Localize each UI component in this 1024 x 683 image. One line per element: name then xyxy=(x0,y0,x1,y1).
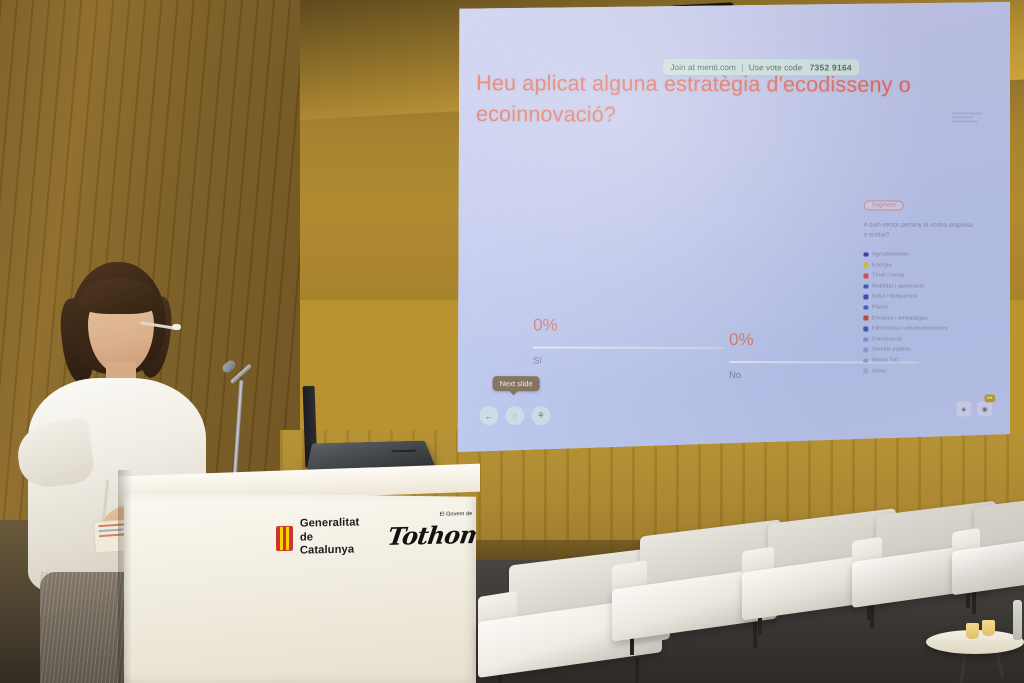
legend-badge: Segment xyxy=(864,200,904,210)
generalitat-line2: de Catalunya xyxy=(300,530,362,559)
poll-label: Sí xyxy=(533,356,723,367)
poll-option-yes: 0% Sí xyxy=(533,317,723,367)
legend-item-label: Salut i bioquímica xyxy=(872,294,917,300)
legend-item: Plàstic xyxy=(863,305,973,311)
legend-item-label: Serveis públics xyxy=(872,347,911,353)
legend-question: A quin sector pertany la vostra empresa … xyxy=(864,220,974,240)
legend-item: Altres xyxy=(863,368,973,374)
legend-item: Construcció xyxy=(863,336,973,342)
generalitat-logo: Generalitat de Catalunya xyxy=(276,516,362,559)
menti-vote-pill: Join at menti.com | Use vote code 7352 9… xyxy=(663,59,859,76)
legend-color-swatch xyxy=(863,358,868,363)
tothom-wordmark: Tothom xyxy=(386,520,486,551)
presenter-icon[interactable]: ⚘ xyxy=(531,406,550,425)
legend-item: Agroalimentari xyxy=(864,252,974,258)
lightbulb-icon[interactable]: ◌ xyxy=(505,406,524,425)
poll-bar xyxy=(533,347,723,349)
legend-item: Salut i bioquímica xyxy=(863,294,973,300)
auditorium-scene: Heu aplicat alguna estratègia d'ecodisse… xyxy=(0,0,1024,683)
participants-icon[interactable]: ◉••• xyxy=(977,401,992,416)
left-arm xyxy=(14,417,96,491)
paper-cup xyxy=(982,620,995,636)
poll-percent: 0% xyxy=(533,317,723,334)
legend-color-swatch xyxy=(863,305,868,310)
participants-badge: ••• xyxy=(984,394,995,402)
legend-item-label: Electrònica i electrodomèstics xyxy=(872,326,948,332)
generalitat-text: Generalitat de Catalunya xyxy=(300,516,362,558)
menti-vote-label: Use vote code xyxy=(749,62,803,72)
menti-separator: | xyxy=(741,62,743,72)
lectern-branding: Generalitat de Catalunya El Govern de To… xyxy=(276,514,484,559)
segment-legend: Segment A quin sector pertany la vostra … xyxy=(863,193,973,379)
legend-color-swatch xyxy=(863,369,868,374)
legend-item: Serveis públics xyxy=(863,347,973,353)
legend-color-swatch xyxy=(863,263,868,268)
menti-join-text: Join at menti.com xyxy=(670,62,736,72)
slide-controls-left[interactable]: ←◌⚘ xyxy=(479,406,550,425)
comment-icon[interactable]: ◈ xyxy=(956,401,971,416)
catalan-flag-icon xyxy=(276,526,293,551)
headset-mic-tip xyxy=(172,324,181,330)
legend-list: AgroalimentariEnergiaTèxtil i modaMobili… xyxy=(863,252,973,375)
lectern: Generalitat de Catalunya El Govern de To… xyxy=(124,492,476,683)
legend-item-label: Construcció xyxy=(872,336,902,342)
legend-color-swatch xyxy=(863,295,868,300)
projection-screen: Heu aplicat alguna estratègia d'ecodisse… xyxy=(455,2,1010,452)
bottle xyxy=(1013,600,1022,640)
slide-controls-right[interactable]: ◈◉••• xyxy=(956,401,992,416)
legend-color-swatch xyxy=(863,337,868,342)
legend-item: Envasos i embalatges xyxy=(863,315,973,321)
tothom-logo: El Govern de Tothom xyxy=(388,520,484,551)
slide-title: Heu aplicat alguna estratègia d'ecodisse… xyxy=(476,68,976,133)
legend-item: Sector TIC xyxy=(863,358,973,364)
legend-color-swatch xyxy=(863,316,868,321)
legend-color-swatch xyxy=(863,348,868,353)
legend-item: Energia xyxy=(863,262,973,268)
menti-vote-code: 7352 9164 xyxy=(810,62,852,72)
screen-corner-logo xyxy=(952,112,982,130)
legend-item: Tèxtil i moda xyxy=(863,273,973,279)
next-slide-tooltip: Next slide xyxy=(493,376,540,391)
legend-item-label: Energia xyxy=(872,262,892,268)
paper-cup xyxy=(966,623,979,639)
legend-item-label: Agroalimentari xyxy=(872,252,909,258)
legend-item-label: Plàstic xyxy=(872,305,889,311)
legend-item-label: Mobilitat i automoció xyxy=(872,283,924,289)
legend-color-swatch xyxy=(863,274,868,279)
legend-color-swatch xyxy=(864,252,869,257)
legend-item-label: Envasos i embalatges xyxy=(872,315,928,321)
generalitat-line1: Generalitat xyxy=(300,516,362,531)
chair-leg xyxy=(635,658,639,683)
slide-content: Heu aplicat alguna estratègia d'ecodisse… xyxy=(450,0,1015,458)
armchair xyxy=(952,500,1024,600)
lectern-edge-shadow xyxy=(118,470,132,683)
legend-color-swatch xyxy=(863,326,868,331)
legend-item-label: Altres xyxy=(872,368,887,374)
legend-item-label: Sector TIC xyxy=(872,358,899,364)
back-arrow-icon[interactable]: ← xyxy=(479,406,498,425)
tothom-superscript: El Govern de xyxy=(440,511,473,518)
legend-item-label: Tèxtil i moda xyxy=(872,273,904,279)
legend-color-swatch xyxy=(863,284,868,289)
legend-item: Mobilitat i automoció xyxy=(863,283,973,289)
legend-item: Electrònica i electrodomèstics xyxy=(863,326,973,332)
